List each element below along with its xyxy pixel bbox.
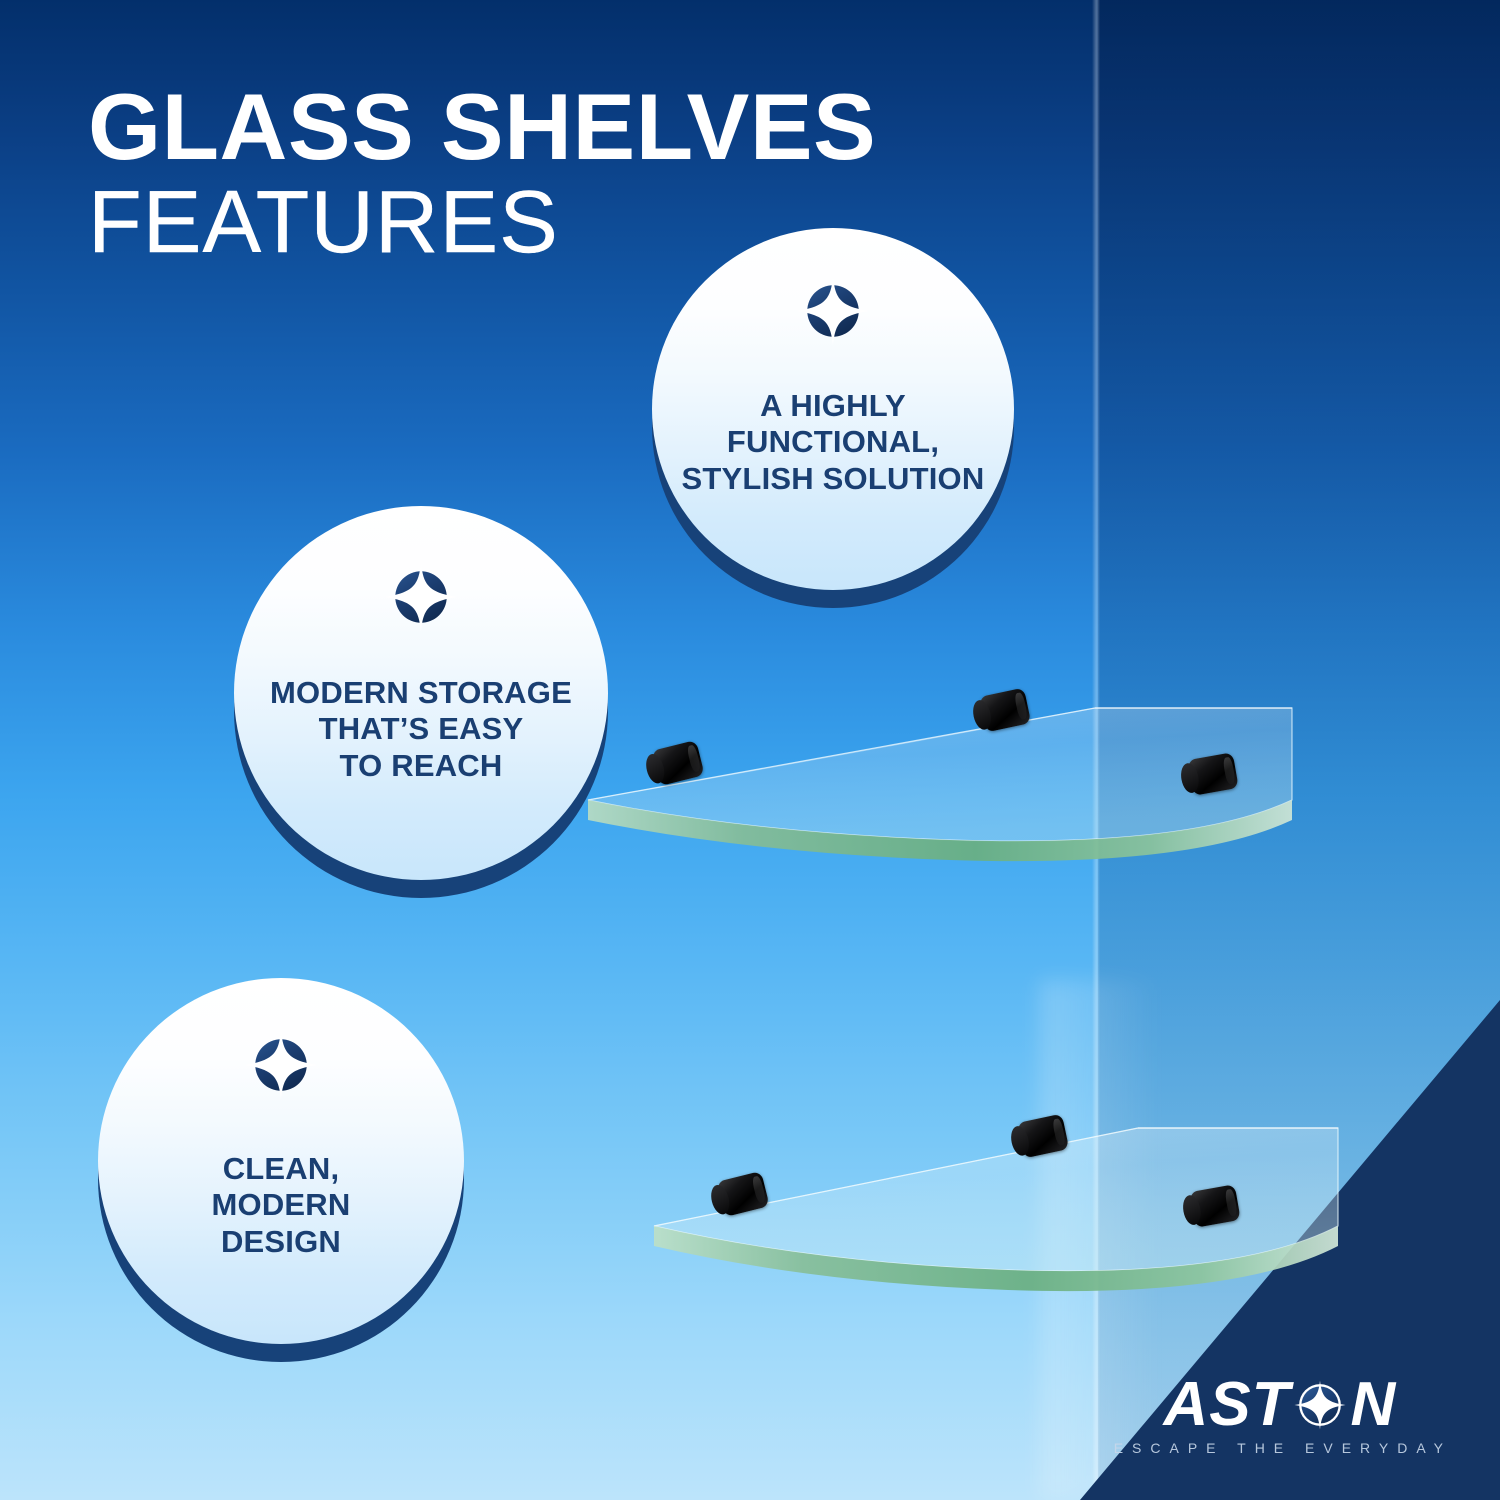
feature-bubble-functional[interactable]: A HIGHLY FUNCTIONAL, STYLISH SOLUTION [652, 228, 1014, 590]
four-point-star-icon [1291, 1376, 1349, 1434]
lower-shelf [638, 1118, 1358, 1308]
bubble-face: MODERN STORAGE THAT’S EASY TO REACH [234, 506, 608, 880]
four-point-star-icon [382, 558, 460, 641]
bubble-face: CLEAN, MODERN DESIGN [98, 978, 464, 1344]
feature-bubble-text: A HIGHLY FUNCTIONAL, STYLISH SOLUTION [678, 388, 988, 497]
aston-wordmark: AST N [1108, 1374, 1452, 1436]
four-point-star-icon [242, 1026, 320, 1109]
feature-bubble-storage[interactable]: MODERN STORAGE THAT’S EASY TO REACH [234, 506, 608, 880]
aston-wordmark-left: AST [1163, 1374, 1290, 1436]
bubble-face: A HIGHLY FUNCTIONAL, STYLISH SOLUTION [652, 228, 1014, 590]
feature-bubble-text: MODERN STORAGE THAT’S EASY TO REACH [261, 675, 581, 784]
four-point-star-icon [794, 272, 872, 355]
aston-logo: AST N ESCAPE THE EVERYDAY [1108, 1374, 1452, 1456]
feature-bubble-design[interactable]: CLEAN, MODERN DESIGN [98, 978, 464, 1344]
upper-shelf [570, 690, 1310, 880]
infographic-canvas: GLASS SHELVES FEATURES [0, 0, 1500, 1500]
aston-wordmark-right: N [1350, 1374, 1396, 1436]
feature-bubble-text: CLEAN, MODERN DESIGN [131, 1151, 431, 1260]
aston-tagline: ESCAPE THE EVERYDAY [1114, 1440, 1452, 1456]
page-title-primary: GLASS SHELVES [88, 82, 1038, 172]
